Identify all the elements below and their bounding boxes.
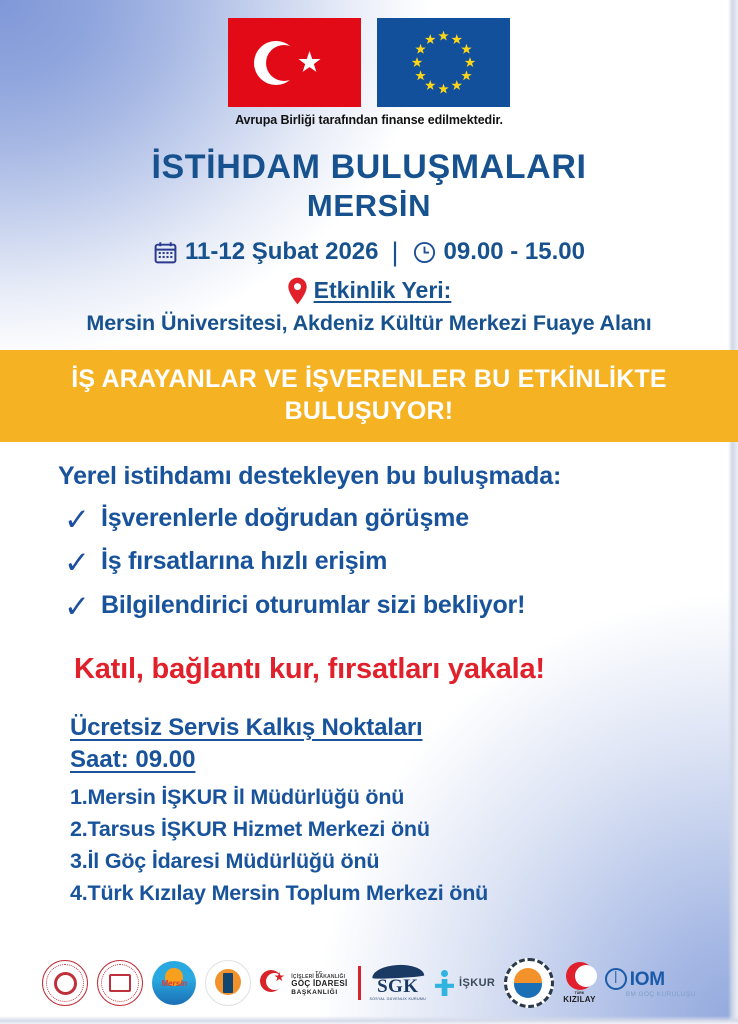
highlight-banner: İŞ ARAYANLAR VE İŞVERENLER BU ETKİNLİKTE… — [0, 350, 738, 442]
datetime-separator: | — [387, 237, 402, 268]
event-time-group: 09.00 - 15.00 — [412, 238, 585, 266]
eu-star-icon — [438, 84, 449, 95]
check-icon: ✓ — [64, 548, 90, 577]
footer-logo-strip: Mersin T.C. İÇİŞLERİ BAKANLIĞI G — [0, 958, 738, 1008]
divider — [358, 966, 361, 1000]
venue-address: Mersin Üniversitesi, Akdeniz Kültür Merk… — [0, 311, 738, 336]
tc-ministry-seal-2-logo — [97, 960, 143, 1006]
eu-star-icon — [425, 34, 436, 45]
mersin-municipality-logo: Mersin — [152, 961, 196, 1005]
miso-bottom-shape — [514, 983, 542, 998]
event-date: 11-12 Şubat 2026 — [185, 238, 378, 266]
flags-row — [0, 0, 738, 107]
goc-main: GÖÇ İDARESİ — [291, 980, 347, 989]
benefits-heading: Yerel istihdamı destekleyen bu buluşmada… — [58, 462, 708, 491]
mersin-universitesi-logo — [205, 960, 251, 1006]
eu-star-icon — [461, 70, 472, 81]
benefit-text: Bilgilendirici oturumlar sizi bekliyor! — [101, 592, 525, 620]
poster-canvas: Avrupa Birliği tarafından finanse edilme… — [0, 0, 738, 1024]
sgk-logo-icon: SGK SOSYAL GÜVENLİK KURUMU — [370, 965, 427, 1001]
column-icon — [223, 973, 233, 993]
eu-star-icon — [425, 80, 436, 91]
location-pin-icon — [287, 277, 308, 305]
crescent-inner — [266, 45, 302, 81]
eu-star-icon — [461, 44, 472, 55]
globe-icon — [605, 968, 627, 990]
funding-note: Avrupa Birliği tarafından finanse edilme… — [0, 113, 738, 127]
venue-label-row: Etkinlik Yeri: — [0, 277, 738, 305]
poster-content: Avrupa Birliği tarafından finanse edilme… — [0, 0, 738, 1024]
iskur-logo-icon: İŞKUR — [435, 970, 495, 996]
banner-line-1: İŞ ARAYANLAR VE İŞVERENLER BU ETKİNLİKTE — [30, 363, 708, 395]
sgk-logo: SGK SOSYAL GÜVENLİK KURUMU — [370, 965, 427, 1001]
call-to-action: Katıl, bağlantı kur, fırsatları yakala! — [0, 653, 738, 686]
iom-row: IOM — [605, 968, 665, 990]
seal-icon — [97, 960, 143, 1006]
benefit-text: İşverenlerle doğrudan görüşme — [101, 505, 469, 533]
eu-star-icon — [451, 34, 462, 45]
clock-icon — [412, 240, 437, 265]
kizilay-label: KIZILAY — [563, 995, 595, 1004]
banner-line-2: BULUŞUYOR! — [30, 395, 708, 427]
benefits-section: Yerel istihdamı destekleyen bu buluşmada… — [0, 462, 738, 621]
turkey-flag-icon — [228, 18, 361, 107]
goc-idaresi-lockup: T.C. İÇİŞLERİ BAKANLIĞI GÖÇ İDARESİ BAŞK… — [260, 966, 360, 1000]
list-item: ✓ Bilgilendirici oturumlar sizi bekliyor… — [58, 592, 708, 621]
sgk-label: SGK — [377, 977, 418, 996]
goc-idaresi-logo: T.C. İÇİŞLERİ BAKANLIĞI GÖÇ İDARESİ BAŞK… — [260, 966, 360, 1000]
service-title: Ücretsiz Servis Kalkış Noktaları — [70, 714, 738, 742]
benefit-text: İş fırsatlarına hızlı erişim — [101, 548, 387, 576]
iskur-logo: İŞKUR — [435, 970, 495, 996]
seal-core — [54, 972, 77, 995]
iom-logo-icon: IOM BM GÖÇ KURULUŞU — [605, 968, 696, 998]
event-datetime-row: 11-12 Şubat 2026 | 09.00 - 15.00 — [0, 237, 738, 268]
miso-top-shape — [514, 968, 542, 983]
goc-sub: BAŞKANLIĞI — [291, 989, 347, 996]
seal-icon — [42, 960, 88, 1006]
event-date-group: 11-12 Şubat 2026 — [153, 238, 378, 266]
goc-idaresi-text: T.C. İÇİŞLERİ BAKANLIĞI GÖÇ İDARESİ BAŞK… — [291, 970, 347, 997]
list-item: 3.İl Göç İdaresi Müdürlüğü önü — [70, 846, 738, 878]
eu-star-icon — [415, 70, 426, 81]
eu-star-icon — [451, 80, 462, 91]
kizilay-logo-icon: TÜRK KIZILAY — [563, 962, 595, 1004]
service-points-list: 1.Mersin İŞKUR İl Müdürlüğü önü 2.Tarsus… — [70, 782, 738, 909]
miso-logo — [504, 958, 554, 1008]
check-icon: ✓ — [64, 505, 90, 534]
calendar-icon — [153, 240, 178, 265]
tc-ministry-seal-1-logo — [42, 960, 88, 1006]
iom-sublabel: BM GÖÇ KURULUŞU — [626, 991, 696, 998]
eu-star-icon — [415, 44, 426, 55]
page-title: İSTİHDAM BULUŞMALARI — [0, 149, 738, 186]
kizilay-logo: TÜRK KIZILAY — [563, 962, 595, 1004]
event-time: 09.00 - 15.00 — [444, 238, 585, 266]
mersin-logo-label: Mersin — [161, 979, 187, 988]
eu-star-icon — [465, 57, 476, 68]
eu-star-icon — [438, 31, 449, 42]
venue-label: Etkinlik Yeri: — [314, 277, 452, 304]
seal-core — [109, 974, 131, 992]
list-item: 4.Türk Kızılay Mersin Toplum Merkezi önü — [70, 878, 738, 910]
eu-star-icon — [412, 57, 423, 68]
mersin-logo-icon: Mersin — [152, 961, 196, 1005]
page-subtitle: MERSİN — [0, 189, 738, 223]
list-item: 2.Tarsus İŞKUR Hizmet Merkezi önü — [70, 814, 738, 846]
iom-label: IOM — [630, 970, 665, 989]
european-union-flag-icon — [377, 18, 510, 107]
iskur-label: İŞKUR — [459, 977, 495, 989]
iom-logo: IOM BM GÖÇ KURULUŞU — [605, 968, 696, 998]
list-item: 1.Mersin İŞKUR İl Müdürlüğü önü — [70, 782, 738, 814]
iskur-mark-icon — [435, 970, 454, 996]
list-item: ✓ İş fırsatlarına hızlı erişim — [58, 548, 708, 577]
service-time: Saat: 09.00 — [70, 746, 195, 774]
check-icon: ✓ — [64, 592, 90, 621]
university-logo-icon — [205, 960, 251, 1006]
crescent-icon — [566, 962, 594, 990]
miso-logo-icon — [504, 958, 554, 1008]
sgk-sublabel: SOSYAL GÜVENLİK KURUMU — [370, 997, 427, 1001]
list-item: ✓ İşverenlerle doğrudan görüşme — [58, 505, 708, 534]
service-section: Ücretsiz Servis Kalkış Noktaları Saat: 0… — [0, 714, 738, 909]
crescent-star-icon — [260, 970, 286, 996]
